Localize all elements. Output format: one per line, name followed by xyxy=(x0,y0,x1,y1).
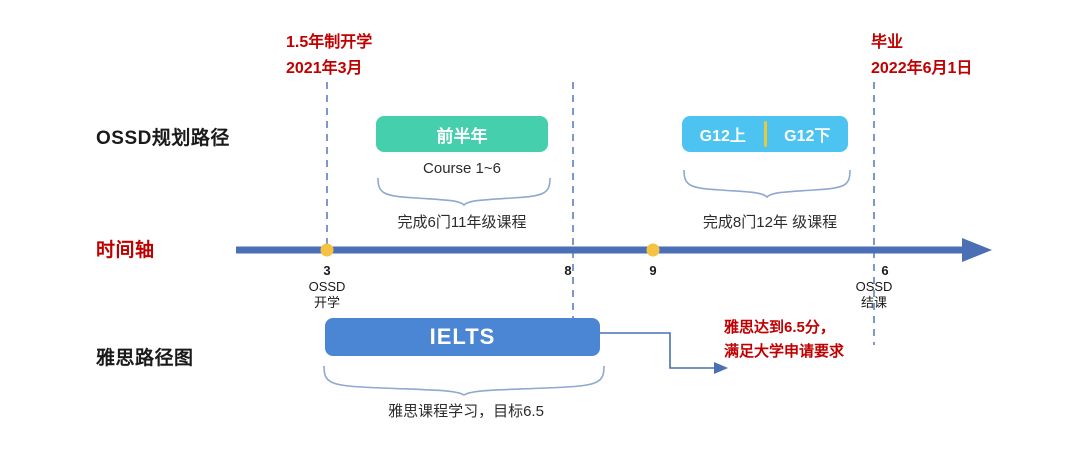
bar-ielts: IELTS xyxy=(325,318,600,356)
tick-sub-4-line1: OSSD xyxy=(839,279,909,295)
note-ielts-result-line1: 雅思达到6.5分， xyxy=(724,316,844,340)
tick-value-4: 6 xyxy=(875,263,895,278)
tick-sub-1: OSSD 开学 xyxy=(292,279,362,311)
caption-ielts-goal: 雅思课程学习，目标6.5 xyxy=(322,400,610,421)
tick-value-1: 3 xyxy=(307,263,347,278)
tick-value-3: 9 xyxy=(633,263,673,278)
tick-sub-4-line2: 结课 xyxy=(839,295,909,311)
timeline-diagram: OSSD规划路径 时间轴 雅思路径图 1.5年制开学 2021年3月 毕业 20… xyxy=(0,0,1080,467)
bar-ielts-label: IELTS xyxy=(430,324,496,350)
brace-ielts xyxy=(322,364,610,396)
note-ielts-result: 雅思达到6.5分， 满足大学申请要求 xyxy=(724,316,844,364)
timeline-arrow-icon xyxy=(962,238,992,262)
timeline-axis xyxy=(0,0,1080,467)
timeline-marker-3 xyxy=(321,244,334,257)
tick-value-2: 8 xyxy=(548,263,588,278)
timeline-marker-9 xyxy=(647,244,660,257)
connector-ielts-to-note xyxy=(598,328,738,383)
tick-sub-1-line1: OSSD xyxy=(292,279,362,295)
tick-sub-1-line2: 开学 xyxy=(292,295,362,311)
note-ielts-result-line2: 满足大学申请要求 xyxy=(724,340,844,364)
tick-sub-4: OSSD 结课 xyxy=(839,279,909,311)
